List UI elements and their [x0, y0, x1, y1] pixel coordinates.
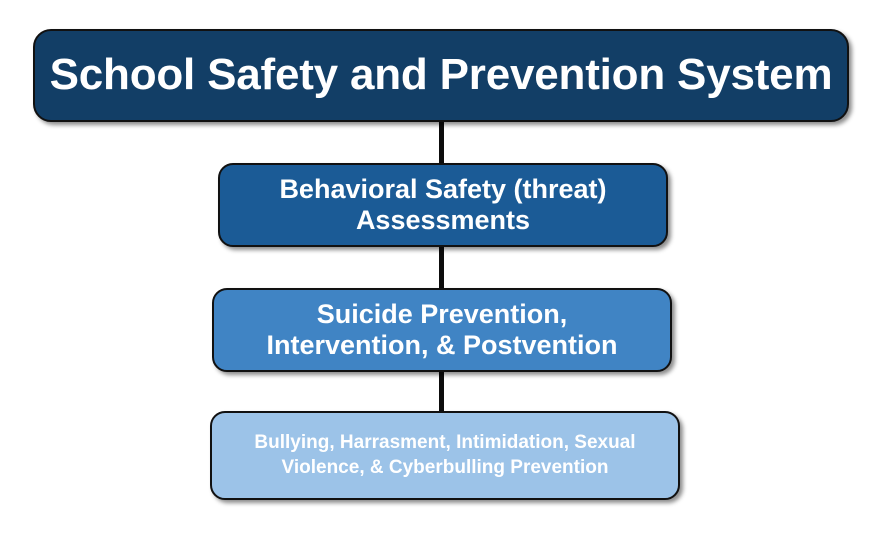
connector-root-to-behavioral-safety [439, 120, 444, 164]
school-safety-prevention-diagram: School Safety and Prevention System Beha… [0, 0, 884, 537]
diagram-node-suicide-prevention: Suicide Prevention, Intervention, & Post… [212, 288, 672, 372]
diagram-node-root: School Safety and Prevention System [33, 29, 849, 122]
connector-suicide-prevention-to-bullying-prevention [439, 370, 444, 412]
connector-behavioral-safety-to-suicide-prevention [439, 245, 444, 289]
diagram-node-behavioral-safety-assessments: Behavioral Safety (threat) Assessments [218, 163, 668, 247]
diagram-node-bullying-prevention: Bullying, Harrasment, Intimidation, Sexu… [210, 411, 680, 500]
